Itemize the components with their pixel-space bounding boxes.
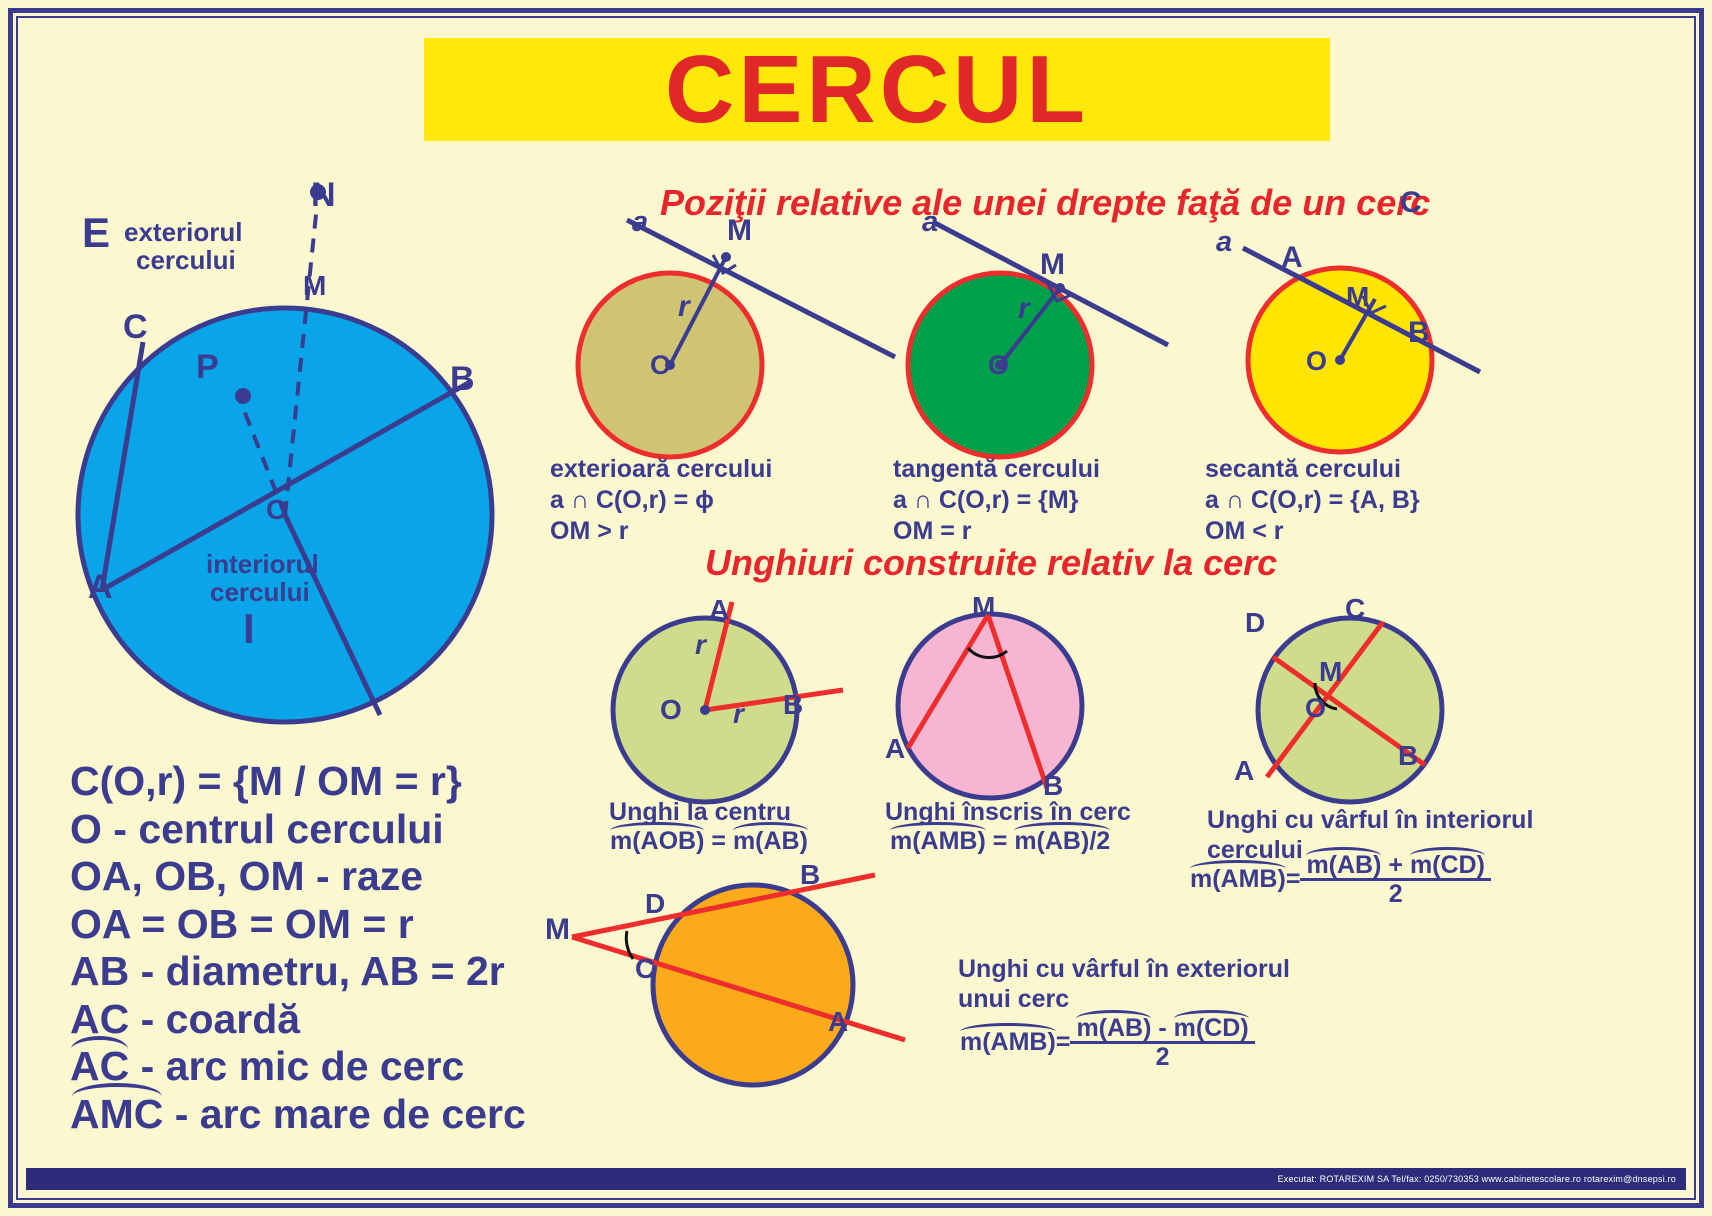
- eq-inscribed: =: [986, 827, 1015, 855]
- caption-exterior-angle-title-2: unui cerc: [958, 985, 1069, 1015]
- caption-central-formula: m(AOB) = m(AB): [610, 827, 808, 857]
- point-o-dot-secant: [1335, 355, 1345, 365]
- angle-exterior-diagram: [555, 855, 975, 1115]
- label-c-exterior-angle: C: [635, 955, 655, 983]
- point-p-dot: [235, 388, 251, 404]
- label-o-exterior: O: [650, 352, 671, 379]
- plus-sign-interior: +: [1381, 851, 1410, 879]
- label-m-interior: M: [1319, 658, 1342, 686]
- label-line-a-tangent: a: [922, 208, 938, 237]
- fraction-denominator-exterior: 2: [1070, 1041, 1254, 1070]
- arc-amb-notation: m(AMB): [890, 827, 986, 857]
- label-d-interior: D: [1245, 609, 1265, 637]
- label-o-tangent: O: [988, 352, 1009, 379]
- page-title: CERCUL: [665, 42, 1089, 138]
- eq-exterior: =: [1056, 1028, 1071, 1057]
- section-heading-angles: Unghiuri construite relativ la cerc: [705, 542, 1277, 584]
- fraction-numerator-interior: m(AB) + m(CD): [1300, 852, 1491, 878]
- footer-bar: Executat: ROTAREXIM SA Tel/fax: 0250/730…: [26, 1168, 1686, 1190]
- arc-aob-notation: m(AOB): [610, 827, 704, 857]
- caption-interior-formula: m(AMB) = m(AB) + m(CD) 2: [1190, 852, 1491, 908]
- label-r-tangent: r: [1018, 294, 1030, 324]
- point-label-a: A: [88, 570, 113, 604]
- caption-exterior-formula: a ∩ C(O,r) = ϕ: [550, 486, 714, 516]
- arc-definition-0: AC - arc mic de cerc: [70, 1043, 630, 1091]
- title-banner: CERCUL: [424, 38, 1330, 141]
- poster-root: CERCUL N M C P B A O E exteriorul cercul…: [0, 0, 1712, 1216]
- arc-cd-notation-exterior: m(CD): [1174, 1015, 1249, 1041]
- label-m-tangent: M: [1040, 250, 1065, 280]
- caption-exterior-title: exterioară cercului: [550, 455, 772, 485]
- fraction-denominator-interior: 2: [1300, 878, 1491, 907]
- interior-letter-i: I: [243, 608, 255, 650]
- label-o-interior: O: [1305, 695, 1326, 722]
- label-m-secant: M: [1346, 283, 1369, 311]
- arc-definition-text-1: - arc mare de cerc: [163, 1091, 525, 1137]
- arc-ab-notation-interior: m(AB): [1306, 852, 1381, 878]
- eq-interior: =: [1286, 865, 1301, 894]
- label-a-exterior-angle: A: [828, 1008, 848, 1036]
- label-o-central: O: [660, 696, 682, 724]
- circle-exterior-diagram: [595, 205, 925, 465]
- interior-label-line1: interiorul: [206, 551, 319, 577]
- label-b-central: B: [783, 691, 803, 719]
- label-a-secant: A: [1281, 243, 1303, 273]
- definitions-list: C(O,r) = {M / OM = r} O - centrul cercul…: [70, 758, 630, 1138]
- fraction-exterior: m(AB) - m(CD) 2: [1070, 1015, 1254, 1071]
- interior-label-line2: cercului: [210, 579, 310, 605]
- label-a-inscribed: A: [885, 735, 905, 763]
- exterior-label-line1: exteriorul: [124, 219, 243, 245]
- exterior-label-line2: cercului: [136, 247, 236, 273]
- exterior-letter-e: E: [82, 212, 110, 254]
- angle-inscribed-diagram: [880, 596, 1180, 826]
- label-r2-central: r: [733, 700, 744, 728]
- angle-central-diagram: [600, 600, 900, 830]
- point-label-p: P: [196, 350, 219, 384]
- label-r1-central: r: [695, 631, 706, 659]
- circle-tangent-diagram: [930, 205, 1260, 465]
- point-label-c: C: [123, 310, 148, 344]
- footer-credit-text: Executat: ROTAREXIM SA Tel/fax: 0250/730…: [1278, 1174, 1676, 1184]
- caption-exterior-angle-title-1: Unghi cu vârful în exteriorul: [958, 955, 1290, 985]
- point-m-dot-tangent: [1055, 283, 1065, 293]
- label-m-exterior-angle: M: [545, 915, 570, 945]
- label-c-secant: C: [1400, 188, 1422, 218]
- minus-sign-exterior: -: [1151, 1014, 1173, 1042]
- caption-exterior-angle-formula: m(AMB) = m(AB) - m(CD) 2: [960, 1015, 1255, 1071]
- definition-item-1: O - centrul cercului: [70, 806, 630, 854]
- label-b-secant: B: [1408, 318, 1430, 348]
- arc-definition-text-0: - arc mic de cerc: [129, 1043, 464, 1089]
- fraction-numerator-exterior: m(AB) - m(CD): [1070, 1015, 1254, 1041]
- label-m-exterior: M: [727, 216, 752, 246]
- main-circle-diagram: [50, 170, 610, 770]
- caption-tangent-title: tangentă cercului: [893, 455, 1100, 485]
- label-a-interior: A: [1234, 757, 1254, 785]
- arc-ab-notation-exterior: m(AB): [1076, 1015, 1151, 1041]
- definition-item-4: AB - diametru, AB = 2r: [70, 948, 630, 996]
- arc-notation-amc: AMC: [70, 1091, 163, 1139]
- label-b-interior: B: [1398, 742, 1418, 770]
- definition-item-5: AC - coardă: [70, 996, 630, 1044]
- label-a-central: A: [709, 596, 729, 624]
- caption-tangent-formula: a ∩ C(O,r) = {M}: [893, 486, 1078, 516]
- label-b-exterior-angle: B: [800, 861, 820, 889]
- label-d-exterior-angle: D: [645, 890, 665, 918]
- definition-item-0: C(O,r) = {M / OM = r}: [70, 758, 630, 806]
- label-line-a-secant: a: [1216, 228, 1232, 257]
- caption-secant-title: secantă cercului: [1205, 455, 1401, 485]
- angle-interior-diagram: [1215, 605, 1515, 835]
- point-o-dot-central: [700, 705, 710, 715]
- label-m-inscribed: M: [972, 593, 995, 621]
- caption-interior-title-1: Unghi cu vârful în interiorul: [1207, 806, 1533, 836]
- eq-central: =: [704, 827, 733, 855]
- arc-ab-notation-inscribed: m(AB)/2: [1014, 827, 1110, 857]
- arc-amb-notation-exterior: m(AMB): [960, 1028, 1056, 1057]
- arc-ab-notation-central: m(AB): [733, 827, 808, 857]
- point-label-m: M: [303, 272, 326, 300]
- label-c-interior: C: [1345, 595, 1365, 623]
- label-line-a-exterior: a: [632, 208, 648, 237]
- caption-exterior-relation: OM > r: [550, 517, 629, 547]
- point-label-o: O: [266, 496, 288, 524]
- point-label-n: N: [311, 178, 336, 212]
- arc-cd-notation-interior: m(CD): [1410, 852, 1485, 878]
- caption-secant-formula: a ∩ C(O,r) = {A, B}: [1205, 486, 1420, 516]
- caption-inscribed-formula: m(AMB) = m(AB)/2: [890, 827, 1110, 857]
- fraction-interior: m(AB) + m(CD) 2: [1300, 852, 1491, 908]
- arc-amb-notation-interior: m(AMB): [1190, 865, 1286, 894]
- point-label-b: B: [450, 362, 475, 396]
- definition-item-2: OA, OB, OM - raze: [70, 853, 630, 901]
- label-r-exterior: r: [678, 292, 690, 322]
- label-o-secant: O: [1306, 348, 1327, 375]
- arc-definition-1: AMC - arc mare de cerc: [70, 1091, 630, 1139]
- label-b-inscribed: B: [1043, 772, 1063, 800]
- point-m-dot-exterior: [721, 252, 731, 262]
